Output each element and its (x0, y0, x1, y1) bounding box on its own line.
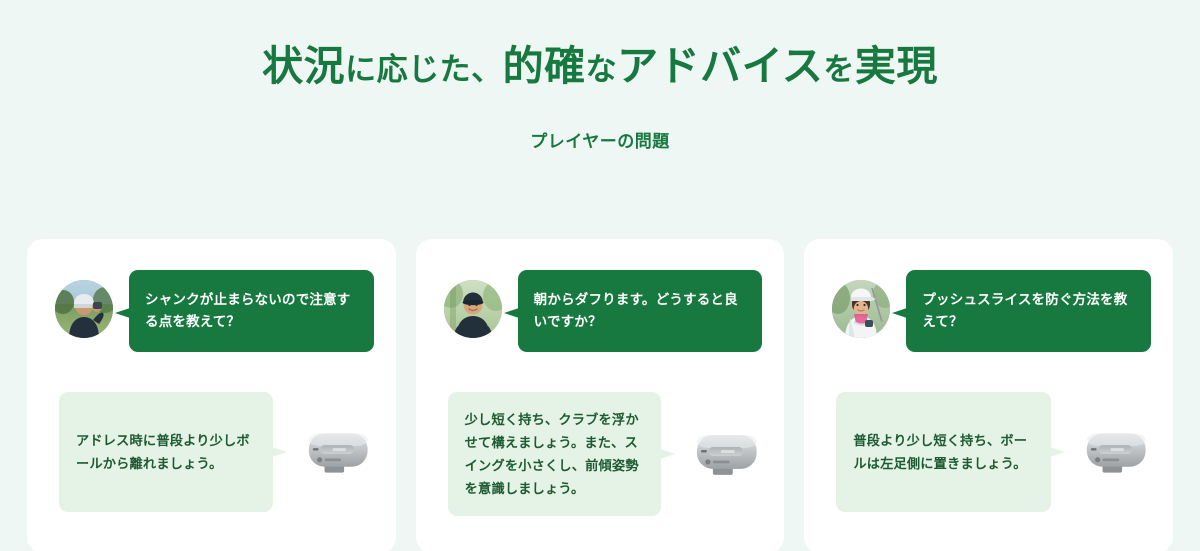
question-bubble-wrap: プッシュスライスを防ぐ方法を教えて？ (906, 270, 1151, 352)
golfer-male-smiling-avatar (444, 280, 502, 338)
question-bubble-wrap: 朝からダフります。どうすると良いですか？ (518, 270, 763, 352)
golfer-male-cap-avatar (55, 280, 113, 338)
question-row: 朝からダフります。どうすると良いですか？ (444, 270, 763, 352)
advice-card[interactable]: 朝からダフります。どうすると良いですか？ 少し短く持ち、クラブを浮かせて構えまし… (416, 239, 785, 551)
answer-bubble: 普段より少し短く持ち、ボールは左足側に置きましょう。 (836, 392, 1050, 512)
answer-row: アドレス時に普段より少しボールから離れましょう。 (59, 392, 376, 512)
answer-text: 普段より少し短く持ち、ボールは左足側に置きましょう。 (853, 429, 1034, 475)
page-title-seg-4: 的確 (503, 43, 586, 89)
page-title-seg-7: を (823, 52, 855, 87)
page-title-seg-1: 状況 (262, 43, 345, 89)
answer-bubble: アドレス時に普段より少しボールから離れましょう。 (59, 392, 273, 512)
question-bubble: 朝からダフります。どうすると良いですか？ (518, 270, 763, 352)
shot-navi-device-icon (689, 425, 765, 483)
question-bubble: プッシュスライスを防ぐ方法を教えて？ (906, 270, 1151, 352)
shot-navi-device-icon (1079, 423, 1153, 481)
advice-card[interactable]: シャンクが止まらないので注意する点を教えて？ アドレス時に普段より少しボールから… (27, 239, 396, 551)
question-text: プッシュスライスを防ぐ方法を教えて？ (922, 289, 1136, 333)
page-title-seg-8: 実現 (855, 43, 938, 89)
advice-card[interactable]: プッシュスライスを防ぐ方法を教えて？ 普段より少し短く持ち、ボールは左足側に置き… (804, 239, 1173, 551)
answer-row: 少し短く持ち、クラブを浮かせて構えましょう。また、スイングを小さくし、前傾姿勢を… (448, 392, 765, 516)
page-title-seg-3: じた、 (408, 52, 503, 87)
question-row: プッシュスライスを防ぐ方法を教えて？ (832, 270, 1151, 352)
answer-bubble: 少し短く持ち、クラブを浮かせて構えましょう。また、スイングを小さくし、前傾姿勢を… (448, 392, 661, 516)
section-label: プレイヤーの問題 (0, 127, 1200, 152)
question-text: 朝からダフります。どうすると良いですか？ (534, 289, 748, 333)
page-title-seg-2: に応 (345, 52, 408, 87)
page-title: 状況に応じた、的確なアドバイスを実現 (0, 42, 1200, 91)
answer-text: 少し短く持ち、クラブを浮かせて構えましょう。また、スイングを小さくし、前傾姿勢を… (465, 408, 645, 500)
page-title-seg-6: アドバイス (617, 43, 823, 89)
page-title-seg-5: な (586, 52, 618, 87)
question-text: シャンクが止まらないので注意する点を教えて？ (145, 289, 359, 333)
question-row: シャンクが止まらないので注意する点を教えて？ (55, 270, 374, 352)
answer-text: アドレス時に普段より少しボールから離れましょう。 (76, 429, 257, 475)
question-bubble-wrap: シャンクが止まらないので注意する点を教えて？ (129, 270, 374, 352)
shot-navi-device-icon (301, 423, 375, 481)
answer-row: 普段より少し短く持ち、ボールは左足側に置きましょう。 (836, 392, 1153, 512)
question-bubble: シャンクが止まらないので注意する点を教えて？ (129, 270, 374, 352)
cards-row: シャンクが止まらないので注意する点を教えて？ アドレス時に普段より少しボールから… (27, 239, 1173, 551)
golfer-female-avatar (832, 280, 890, 338)
